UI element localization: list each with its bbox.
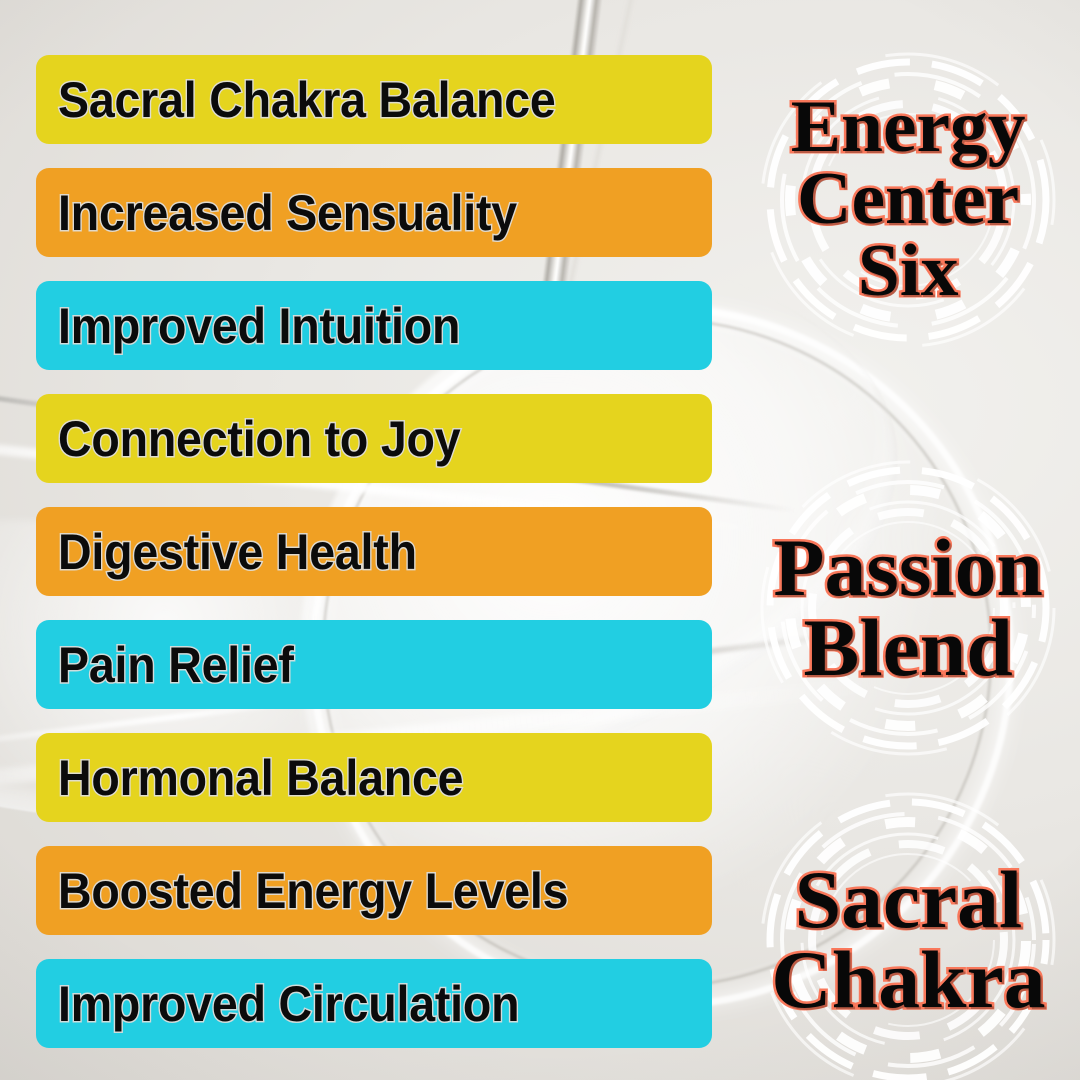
benefit-bar[interactable]: Sacral Chakra Balance xyxy=(36,55,712,144)
badge-energy-center-six: EnergyCenterSix xyxy=(736,40,1080,360)
badge-title-line: Energy xyxy=(791,92,1026,164)
badge-title-line: Passion xyxy=(773,528,1043,608)
benefit-bar-label: Hormonal Balance xyxy=(58,753,463,803)
benefit-bar-list: Sacral Chakra BalanceIncreased Sensualit… xyxy=(36,55,712,1048)
benefit-bar-label: Boosted Energy Levels xyxy=(58,866,568,916)
badge-title: SacralChakra xyxy=(771,860,1045,1019)
benefit-bar-label: Improved Intuition xyxy=(58,301,460,351)
badge-title-line: Six xyxy=(791,236,1026,308)
benefit-bar-label: Connection to Joy xyxy=(58,414,460,464)
badge-title: EnergyCenterSix xyxy=(791,92,1026,307)
benefit-bar[interactable]: Increased Sensuality xyxy=(36,168,712,257)
benefit-bar-label: Pain Relief xyxy=(58,640,294,690)
poster-canvas: Sacral Chakra BalanceIncreased Sensualit… xyxy=(0,0,1080,1080)
benefit-bar-label: Sacral Chakra Balance xyxy=(58,75,556,125)
badge-title-line: Chakra xyxy=(771,940,1045,1020)
benefit-bar[interactable]: Pain Relief xyxy=(36,620,712,709)
badge-sacral-chakra: SacralChakra xyxy=(736,790,1080,1080)
badge-stack: EnergyCenterSix PassionBlend SacralChakr… xyxy=(736,0,1080,1080)
benefit-bar[interactable]: Connection to Joy xyxy=(36,394,712,483)
benefit-bar[interactable]: Improved Intuition xyxy=(36,281,712,370)
benefit-bar-label: Improved Circulation xyxy=(58,979,519,1029)
badge-passion-blend: PassionBlend xyxy=(736,448,1080,768)
badge-title-line: Sacral xyxy=(771,860,1045,940)
benefit-bar[interactable]: Boosted Energy Levels xyxy=(36,846,712,935)
benefit-bar[interactable]: Hormonal Balance xyxy=(36,733,712,822)
benefit-bar[interactable]: Improved Circulation xyxy=(36,959,712,1048)
badge-title-line: Center xyxy=(791,164,1026,236)
benefit-bar-label: Increased Sensuality xyxy=(58,188,517,238)
benefit-bar-label: Digestive Health xyxy=(58,527,417,577)
badge-title-line: Blend xyxy=(773,608,1043,688)
benefit-bar[interactable]: Digestive Health xyxy=(36,507,712,596)
badge-title: PassionBlend xyxy=(773,528,1043,687)
